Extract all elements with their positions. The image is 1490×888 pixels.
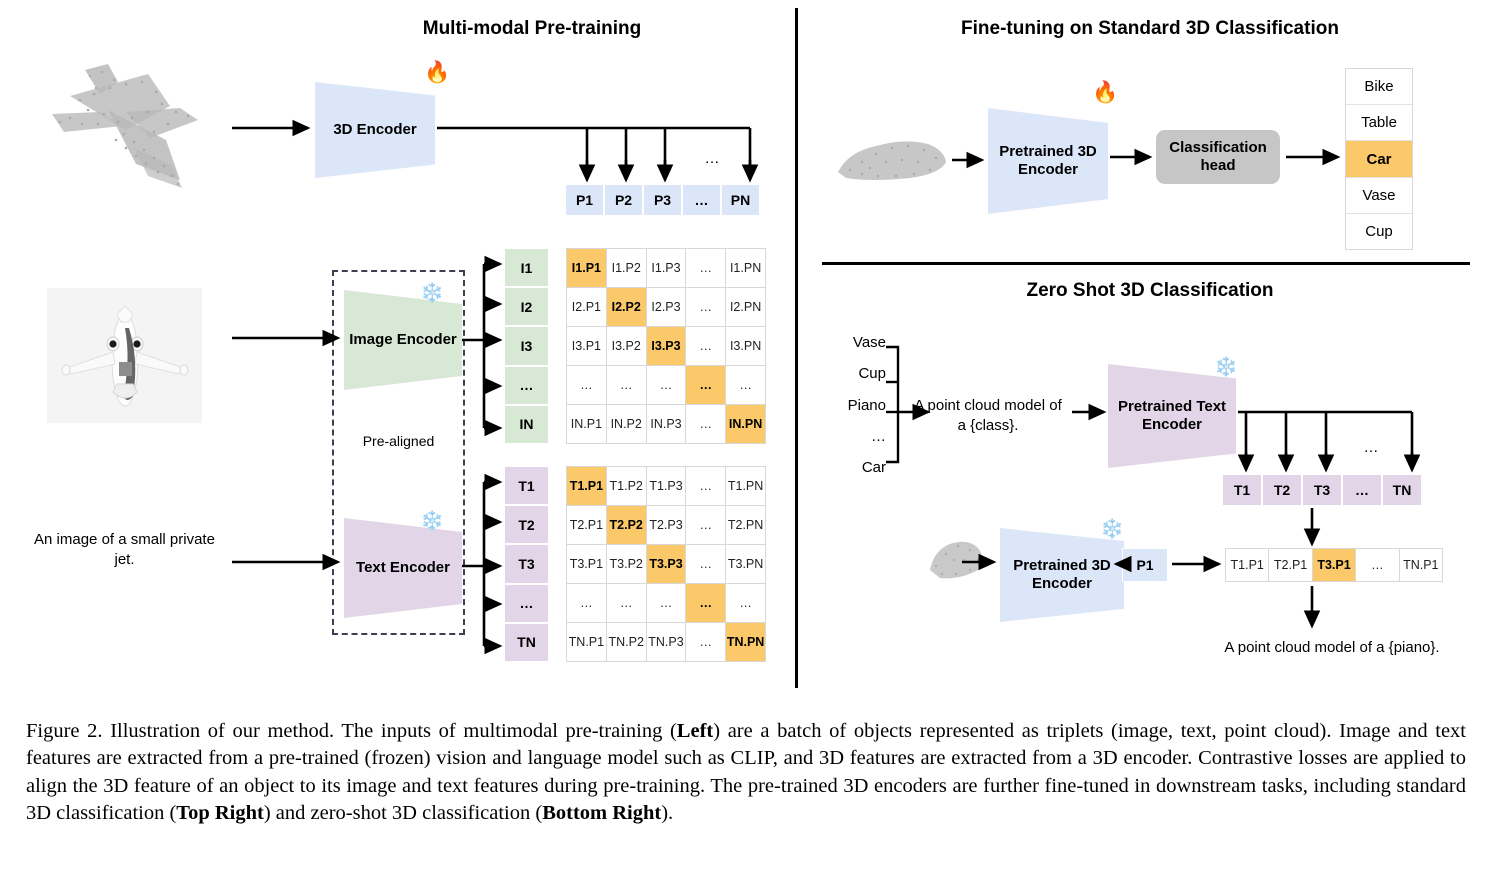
text-input-value: An image of a small private jet. <box>34 531 215 568</box>
zeroshot-pretrained-text-encoder[interactable]: Pretrained TextEncoder <box>1108 364 1236 468</box>
class-item-vase[interactable]: Vase <box>1346 178 1412 214</box>
airplane-render-image <box>47 288 202 423</box>
image-matrix-cell-3-0: … <box>567 366 606 404</box>
text-matrix-cell-3-0: … <box>567 584 606 622</box>
caption-part-3: ) and zero-shot 3D classification ( <box>264 802 542 824</box>
image-matrix-cell-1-3: … <box>686 288 725 326</box>
zeroshot-t-token-2: T3 <box>1302 474 1342 506</box>
zeroshot-t-token-1: T2 <box>1262 474 1302 506</box>
class-item-bike[interactable]: Bike <box>1346 69 1412 105</box>
zeroshot-t-token-0: T1 <box>1222 474 1262 506</box>
text-matrix-cell-3-2: … <box>647 584 686 622</box>
image-matrix-cell-4-2: IN.P3 <box>647 405 686 443</box>
encoder-3d[interactable]: 3D Encoder <box>315 82 435 178</box>
text-encoder-label: Text Encoder <box>356 559 450 577</box>
image-matrix-cell-3-4: … <box>726 366 765 404</box>
text-matrix-cell-3-4: … <box>726 584 765 622</box>
zeroshot-prompt-template: A point cloud model ofa {class}. <box>908 396 1068 435</box>
image-matrix-cell-2-4: I3.PN <box>726 327 765 365</box>
snowflake-icon-zeroshot-3d-encoder: ❄️ <box>1100 520 1124 539</box>
panel-title-pretraining: Multi-modal Pre-training <box>262 18 802 40</box>
zeroshot-class-label-2: Piano <box>820 398 886 413</box>
t-token-0: T1 <box>504 466 549 505</box>
caption-part-1: Figure 2. Illustration of our method. Th… <box>26 720 677 742</box>
image-matrix-cell-2-2: I3.P3 <box>647 327 686 365</box>
p-token-4: PN <box>721 184 760 216</box>
figure-canvas: Multi-modal Pre-training Fine-tuning on … <box>0 0 1490 888</box>
text-matrix-cell-2-0: T3.P1 <box>567 545 606 583</box>
text-matrix-cell-2-1: T3.P2 <box>607 545 646 583</box>
image-matrix-cell-0-0: I1.P1 <box>567 249 606 287</box>
svg-text:…: … <box>705 150 720 167</box>
caption-bold-left: Left <box>677 720 713 742</box>
caption-part-4: ). <box>661 802 673 824</box>
p-token-0: P1 <box>565 184 604 216</box>
image-matrix-cell-4-4: IN.PN <box>726 405 765 443</box>
text-matrix-cell-3-3: … <box>686 584 725 622</box>
zeroshot-3d-encoder-label: Pretrained 3DEncoder <box>1013 557 1111 592</box>
zeroshot-t-token-row: T1T2T3…TN <box>1222 474 1422 506</box>
text-matrix-cell-4-1: TN.P2 <box>607 623 646 661</box>
image-matrix-cell-3-1: … <box>607 366 646 404</box>
piano-point-cloud <box>920 526 994 592</box>
class-item-cup[interactable]: Cup <box>1346 214 1412 249</box>
classification-head-label: Classificationhead <box>1169 139 1267 175</box>
p-token-row: P1P2P3…PN <box>565 184 760 216</box>
zeroshot-result-text: A point cloud model of a {piano}. <box>1172 638 1490 658</box>
p-token-3: … <box>682 184 721 216</box>
text-matrix-cell-1-3: … <box>686 506 725 544</box>
text-matrix-cell-2-2: T3.P3 <box>647 545 686 583</box>
prealigned-label: Pre-aligned <box>332 432 465 450</box>
zeroshot-class-labels: VaseCupPiano…Car <box>820 335 886 475</box>
image-matrix-cell-2-1: I3.P2 <box>607 327 646 365</box>
image-matrix-cell-0-2: I1.P3 <box>647 249 686 287</box>
airplane-point-cloud <box>30 52 220 202</box>
text-matrix-cell-4-4: TN.PN <box>726 623 765 661</box>
zeroshot-score-cell-4: TN.P1 <box>1400 549 1442 581</box>
zeroshot-p1-token: P1 <box>1122 548 1168 582</box>
fire-icon-3d-encoder: 🔥 <box>424 62 450 83</box>
i-token-3: … <box>504 366 549 405</box>
image-matrix-cell-3-2: … <box>647 366 686 404</box>
zeroshot-class-label-4: Car <box>820 460 886 475</box>
i-token-2: I3 <box>504 326 549 365</box>
text-matrix-cell-0-0: T1.P1 <box>567 467 606 505</box>
text-matrix-cell-2-4: T3.PN <box>726 545 765 583</box>
image-encoder[interactable]: Image Encoder <box>344 290 462 390</box>
snowflake-icon-image-encoder: ❄️ <box>420 284 444 303</box>
image-matrix-cell-1-1: I2.P2 <box>607 288 646 326</box>
text-matrix-cell-1-0: T2.P1 <box>567 506 606 544</box>
class-item-car[interactable]: Car <box>1346 141 1412 177</box>
classification-head[interactable]: Classificationhead <box>1156 130 1280 184</box>
zeroshot-class-label-1: Cup <box>820 366 886 381</box>
panel-title-finetuning: Fine-tuning on Standard 3D Classificatio… <box>830 18 1470 40</box>
i-token-4: IN <box>504 405 549 444</box>
text-similarity-matrix: T1.P1T1.P2T1.P3…T1.PNT2.P1T2.P2T2.P3…T2.… <box>566 466 766 662</box>
image-matrix-cell-3-3: … <box>686 366 725 404</box>
t-token-column: T1T2T3…TN <box>504 466 549 662</box>
finetune-encoder-label: Pretrained 3DEncoder <box>999 143 1097 178</box>
image-matrix-cell-1-0: I2.P1 <box>567 288 606 326</box>
t-token-3: … <box>504 584 549 623</box>
text-matrix-cell-4-3: … <box>686 623 725 661</box>
text-input-caption: An image of a small private jet. <box>22 530 227 569</box>
i-token-1: I2 <box>504 287 549 326</box>
zeroshot-text-encoder-label: Pretrained TextEncoder <box>1118 398 1226 433</box>
text-matrix-cell-4-0: TN.P1 <box>567 623 606 661</box>
image-matrix-cell-1-4: I2.PN <box>726 288 765 326</box>
zeroshot-t-token-3: … <box>1342 474 1382 506</box>
class-item-table[interactable]: Table <box>1346 105 1412 141</box>
image-similarity-matrix: I1.P1I1.P2I1.P3…I1.PNI2.P1I2.P2I2.P3…I2.… <box>566 248 766 444</box>
caption-bold-topright: Top Right <box>176 802 264 824</box>
t-token-2: T3 <box>504 544 549 583</box>
snowflake-icon-zeroshot-text-encoder: ❄️ <box>1214 358 1238 377</box>
i-token-0: I1 <box>504 248 549 287</box>
zeroshot-score-row: T1.P1T2.P1T3.P1…TN.P1 <box>1225 548 1443 582</box>
text-matrix-cell-4-2: TN.P3 <box>647 623 686 661</box>
p-token-2: P3 <box>643 184 682 216</box>
class-prediction-list[interactable]: BikeTableCarVaseCup <box>1345 68 1413 250</box>
i-token-column: I1I2I3…IN <box>504 248 549 444</box>
text-matrix-cell-0-1: T1.P2 <box>607 467 646 505</box>
image-matrix-cell-4-0: IN.P1 <box>567 405 606 443</box>
zeroshot-class-label-3: … <box>820 429 886 444</box>
text-matrix-cell-2-3: … <box>686 545 725 583</box>
zeroshot-score-cell-0: T1.P1 <box>1226 549 1268 581</box>
vertical-divider <box>795 8 798 688</box>
figure-caption: Figure 2. Illustration of our method. Th… <box>26 718 1466 828</box>
text-matrix-cell-0-2: T1.P3 <box>647 467 686 505</box>
text-matrix-cell-0-3: … <box>686 467 725 505</box>
zeroshot-score-cell-3: … <box>1356 549 1398 581</box>
image-matrix-cell-4-3: … <box>686 405 725 443</box>
text-encoder[interactable]: Text Encoder <box>344 518 462 618</box>
text-matrix-cell-0-4: T1.PN <box>726 467 765 505</box>
image-matrix-cell-2-0: I3.P1 <box>567 327 606 365</box>
p-token-1: P2 <box>604 184 643 216</box>
zeroshot-t-token-4: TN <box>1382 474 1422 506</box>
text-matrix-cell-3-1: … <box>607 584 646 622</box>
zeroshot-pretrained-3d-encoder[interactable]: Pretrained 3DEncoder <box>1000 528 1124 622</box>
zeroshot-score-cell-2: T3.P1 <box>1313 549 1355 581</box>
fire-icon-finetune-encoder: 🔥 <box>1092 82 1118 103</box>
text-matrix-cell-1-1: T2.P2 <box>607 506 646 544</box>
panel-title-zeroshot: Zero Shot 3D Classification <box>830 280 1470 302</box>
svg-text:…: … <box>1364 439 1379 456</box>
image-matrix-cell-0-3: … <box>686 249 725 287</box>
text-matrix-cell-1-4: T2.PN <box>726 506 765 544</box>
encoder-3d-label: 3D Encoder <box>333 121 416 139</box>
caption-bold-bottomright: Bottom Right <box>542 802 661 824</box>
t-token-4: TN <box>504 623 549 662</box>
text-matrix-cell-1-2: T2.P3 <box>647 506 686 544</box>
finetune-pretrained-3d-encoder[interactable]: Pretrained 3DEncoder <box>988 108 1108 214</box>
zeroshot-score-cell-1: T2.P1 <box>1269 549 1311 581</box>
snowflake-icon-text-encoder: ❄️ <box>420 512 444 531</box>
image-matrix-cell-0-4: I1.PN <box>726 249 765 287</box>
horizontal-divider <box>822 262 1470 265</box>
image-encoder-label: Image Encoder <box>349 331 457 349</box>
car-point-cloud <box>832 128 952 188</box>
zeroshot-class-label-0: Vase <box>820 335 886 350</box>
image-matrix-cell-1-2: I2.P3 <box>647 288 686 326</box>
t-token-1: T2 <box>504 505 549 544</box>
image-matrix-cell-2-3: … <box>686 327 725 365</box>
image-matrix-cell-0-1: I1.P2 <box>607 249 646 287</box>
image-matrix-cell-4-1: IN.P2 <box>607 405 646 443</box>
